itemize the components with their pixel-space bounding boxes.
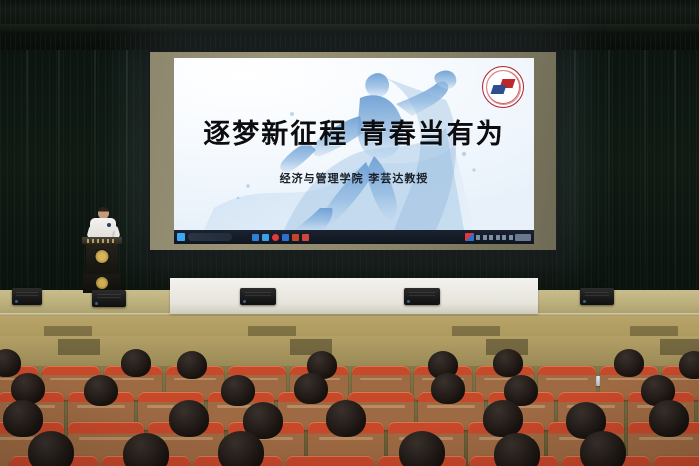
audience-seat — [286, 456, 374, 466]
tray-icon-5[interactable] — [502, 235, 506, 240]
audience-member-head — [3, 400, 43, 437]
university-emblem — [482, 66, 524, 108]
app-icon-explorer[interactable] — [252, 234, 259, 241]
audience-member-head — [493, 349, 523, 377]
app-icon-powerpoint[interactable] — [292, 234, 299, 241]
audience-member-head — [121, 349, 151, 377]
tray-icon-6[interactable] — [509, 235, 513, 240]
audience-member-head — [28, 431, 74, 466]
stage-curtain-left — [0, 50, 148, 302]
presenter-badge — [107, 223, 111, 227]
audience-seating-area — [0, 336, 699, 466]
app-icon-office[interactable] — [282, 234, 289, 241]
app-icon-browser[interactable] — [262, 234, 269, 241]
podium-base-emblem — [96, 277, 108, 289]
audience-member-head — [11, 373, 45, 404]
audience-member-head — [399, 431, 445, 466]
tray-icon-1[interactable] — [476, 235, 480, 240]
stage-monitor-1 — [12, 288, 42, 305]
audience-member-head — [221, 375, 255, 406]
stage-monitor-4 — [580, 288, 614, 305]
tray-icon-3[interactable] — [489, 235, 493, 240]
slide-title: 逐梦新征程 青春当有为 — [174, 112, 534, 151]
house-rear-wall — [0, 336, 699, 366]
stage-riser — [170, 278, 538, 314]
audience-member-head — [177, 351, 207, 379]
audience-seat — [654, 456, 699, 466]
audience-member-head — [326, 400, 366, 437]
audience-member-head — [294, 373, 328, 404]
tray-icon-2[interactable] — [483, 235, 487, 240]
app-icon-recording[interactable] — [272, 234, 279, 241]
audience-member-head — [218, 431, 264, 466]
app-icon-media[interactable] — [302, 234, 309, 241]
tray-icon-4[interactable] — [496, 235, 500, 240]
ceiling-beam — [0, 24, 699, 34]
speaker-podium — [82, 237, 122, 293]
windows-taskbar[interactable] — [174, 230, 534, 244]
input-method-flag-icon[interactable] — [465, 233, 474, 241]
stage-monitor-3 — [404, 288, 440, 305]
projection-screen[interactable]: 逐梦新征程 青春当有为 经济与管理学院 李芸达教授 — [174, 58, 534, 244]
audience-member-head — [649, 400, 689, 437]
audience-member-head — [84, 375, 118, 406]
auditorium-scene: 逐梦新征程 青春当有为 经济与管理学院 李芸达教授 — [0, 0, 699, 466]
audience-member-head — [679, 351, 699, 379]
audience-member-head — [614, 349, 644, 377]
audience-member-head — [431, 373, 465, 404]
audience-member-head — [580, 431, 626, 466]
stage-monitor-2 — [240, 288, 276, 305]
stage-curtain-right — [556, 50, 699, 302]
stage-monitor-podium — [92, 290, 126, 307]
presentation-slide: 逐梦新征程 青春当有为 经济与管理学院 李芸达教授 — [174, 58, 534, 230]
search-input[interactable] — [188, 233, 232, 241]
projection-screen-frame: 逐梦新征程 青春当有为 经济与管理学院 李芸达教授 — [150, 52, 556, 250]
podium-emblem — [96, 250, 109, 263]
audience-member-head — [483, 400, 523, 437]
windows-start-icon[interactable] — [177, 233, 185, 241]
taskbar-clock[interactable] — [515, 234, 531, 241]
slide-subtitle: 经济与管理学院 李芸达教授 — [174, 170, 534, 186]
audience-member-head — [169, 400, 209, 437]
